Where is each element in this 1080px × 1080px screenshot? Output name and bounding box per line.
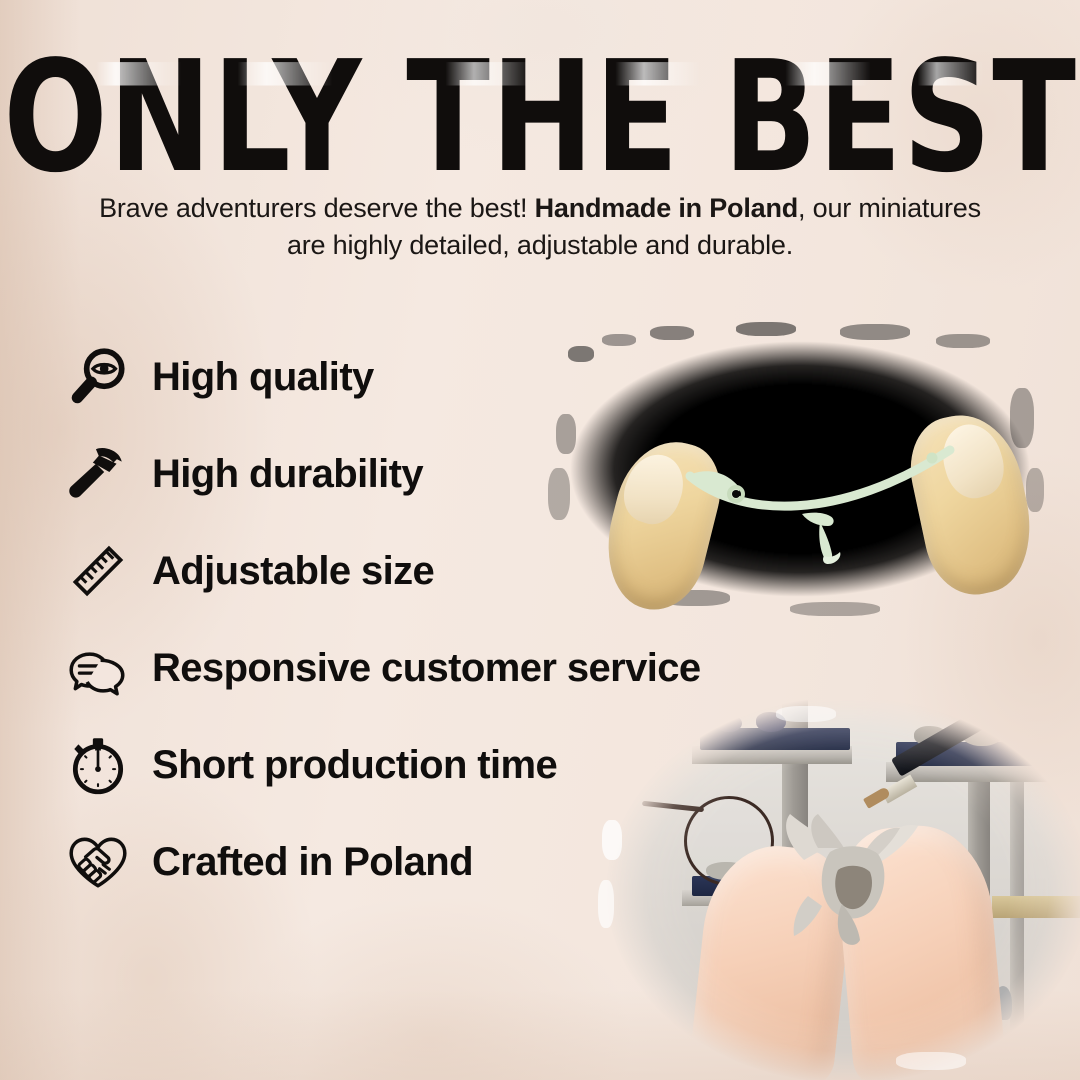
subtitle: Brave adventurers deserve the best! Hand… xyxy=(90,190,990,263)
flexible-miniature-photo xyxy=(540,318,1060,620)
subtitle-highlight: Handmade in Poland xyxy=(535,193,798,223)
feature-label: Short production time xyxy=(152,745,557,785)
miniature-piece xyxy=(716,714,742,732)
feature-label: High quality xyxy=(152,357,374,397)
subtitle-lead: Brave adventurers deserve the best! xyxy=(99,193,535,223)
ruler-icon xyxy=(62,535,134,607)
feature-label: Adjustable size xyxy=(152,551,434,591)
page-title: ONLY THE BEST xyxy=(3,40,1077,193)
winged-dragon-miniature xyxy=(746,786,966,976)
paper-speck xyxy=(896,1052,966,1070)
miniature-piece xyxy=(1014,726,1060,746)
magnifier-eye-icon xyxy=(62,341,134,413)
hammer-icon xyxy=(62,438,134,510)
poster-canvas: ONLY THE BEST Brave adventurers deserve … xyxy=(0,0,1080,1080)
feature-label: Responsive customer service xyxy=(152,648,701,688)
feature-label: Crafted in Poland xyxy=(152,842,473,882)
painting-workshop-photo xyxy=(596,700,1080,1080)
stopwatch-icon xyxy=(62,729,134,801)
heart-handshake-icon xyxy=(62,826,134,898)
shelf-board xyxy=(992,896,1080,918)
green-miniature-strap xyxy=(540,318,1060,620)
feature-label: High durability xyxy=(152,454,423,494)
headline-container: ONLY THE BEST xyxy=(0,40,1080,158)
paper-speck xyxy=(602,820,622,860)
torn-edge-mask xyxy=(596,700,1080,1080)
speech-bubbles-icon xyxy=(62,632,134,704)
paper-speck xyxy=(598,880,614,928)
paper-speck xyxy=(776,706,836,722)
